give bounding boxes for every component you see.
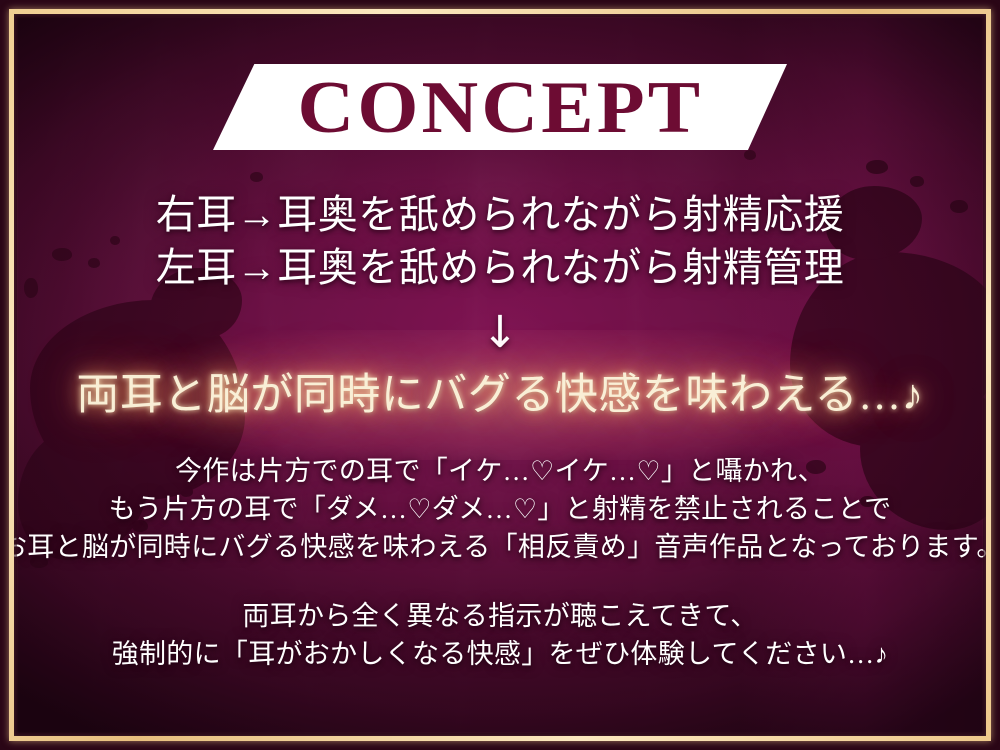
content-container: CONCEPT 右耳→耳奥を舐められながら射精応援 左耳→耳奥を舐められながら射… xyxy=(0,0,1000,750)
page-title: CONCEPT xyxy=(297,71,703,145)
highlight-row: 両耳と脳が同時にバグる快感を味わえる…♪ xyxy=(0,367,1000,425)
description-line: 強制的に「耳がおかしくなる快感」をぜひ体験してください…♪ xyxy=(0,635,1000,673)
description-line: 両耳から全く異なる指示が聴こえてきて、 xyxy=(0,597,1000,635)
description-line: 今作は片方での耳で「イケ…♡イケ…♡」と囁かれ、 xyxy=(0,452,1000,490)
concept-line-left-ear: 左耳→耳奥を舐められながら射精管理 xyxy=(0,241,1000,294)
title-banner-wrap: CONCEPT xyxy=(213,64,787,150)
description-paragraph-1: 今作は片方での耳で「イケ…♡イケ…♡」と囁かれ、 もう片方の耳で「ダメ…♡ダメ…… xyxy=(0,452,1000,566)
concept-line-right-ear: 右耳→耳奥を舐められながら射精応援 xyxy=(0,188,1000,241)
description-line: もう片方の耳で「ダメ…♡ダメ…♡」と射精を禁止されることで xyxy=(0,490,1000,528)
concept-page: CONCEPT 右耳→耳奥を舐められながら射精応援 左耳→耳奥を舐められながら射… xyxy=(0,0,1000,750)
description-paragraph-2: 両耳から全く異なる指示が聴こえてきて、 強制的に「耳がおかしくなる快感」をぜひ体… xyxy=(0,597,1000,673)
concept-highlight-text: 両耳と脳が同時にバグる快感を味わえる…♪ xyxy=(76,367,923,425)
description-line: お耳と脳が同時にバグる快感を味わえる「相反責め」音声作品となっております。 xyxy=(0,528,1000,566)
arrow-down-icon: ↓ xyxy=(482,307,519,358)
title-banner: CONCEPT xyxy=(213,64,787,150)
concept-lines: 右耳→耳奥を舐められながら射精応援 左耳→耳奥を舐められながら射精管理 xyxy=(0,188,1000,294)
down-arrow-row: ↓ xyxy=(0,308,1000,358)
